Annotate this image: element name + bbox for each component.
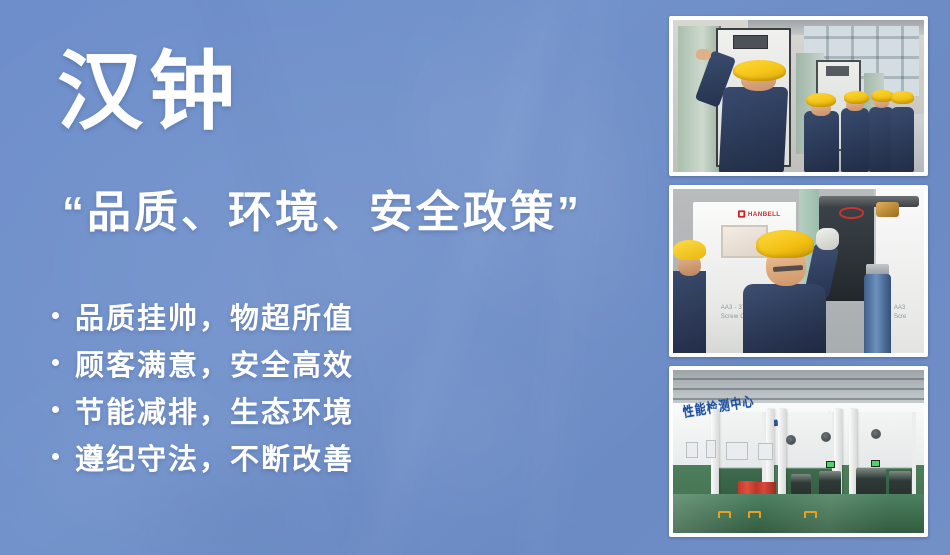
list-item: 节能减排，生态环境 bbox=[52, 386, 354, 433]
policy-subtitle: “品质、环境、安全政策” bbox=[62, 185, 582, 240]
wall-panel bbox=[686, 442, 699, 458]
wall-panel bbox=[726, 442, 749, 460]
worker-body bbox=[841, 108, 869, 172]
floor-guard-rail bbox=[748, 511, 761, 518]
hanbell-logo-text: HANBELL bbox=[748, 211, 781, 217]
bullet-dot-icon bbox=[52, 359, 59, 366]
policy-item-label: 品质挂帅，物超所值 bbox=[75, 295, 354, 337]
worker-body bbox=[804, 111, 839, 172]
list-item: 品质挂帅，物超所值 bbox=[52, 292, 354, 339]
worker-body bbox=[743, 284, 826, 353]
photo-column: 身穿深蓝工服、佩戴黄色安全帽的工人在电气控制柜前作业 HANBELL bbox=[669, 16, 928, 537]
pipe bbox=[819, 196, 919, 207]
list-item: 遵纪守法，不断改善 bbox=[52, 433, 354, 480]
worker-body bbox=[869, 107, 894, 172]
worker-body bbox=[673, 271, 706, 353]
hanbell-logo-mark-icon bbox=[738, 211, 745, 218]
photo-image: HANBELL AA3 - 37A Screw Compressor AA3 S… bbox=[673, 189, 924, 353]
brass-fitting bbox=[876, 202, 899, 217]
worker-body bbox=[718, 87, 788, 172]
yellow-hardhat-icon bbox=[756, 230, 814, 258]
photo-technician-screw-compressor: HANBELL AA3 - 37A Screw Compressor AA3 S… bbox=[669, 185, 928, 357]
machine-model-label-secondary: AA3 Scre bbox=[894, 304, 906, 322]
machine-model2-line2: Scre bbox=[894, 313, 906, 322]
hanbell-logo: HANBELL bbox=[738, 211, 781, 218]
cabinet-panel bbox=[733, 35, 768, 49]
yellow-hardhat-icon bbox=[673, 240, 706, 260]
yellow-hardhat-icon bbox=[844, 91, 869, 103]
bullet-dot-icon bbox=[52, 312, 59, 319]
cabinet-panel bbox=[826, 66, 849, 77]
list-item: 顾客满意，安全高效 bbox=[52, 339, 354, 386]
policy-list: 品质挂帅，物超所值 顾客满意，安全高效 节能减排，生态环境 遵纪守法，不断改善 bbox=[52, 292, 354, 480]
valve-icon bbox=[839, 207, 864, 218]
wall-fan-icon bbox=[871, 429, 881, 439]
yellow-hardhat-icon bbox=[806, 93, 836, 107]
brand-title: 汉钟 bbox=[57, 46, 241, 139]
floor-guard-rail bbox=[804, 511, 817, 518]
wall-panel bbox=[758, 443, 773, 459]
ceiling-beam bbox=[673, 388, 924, 390]
worker-body bbox=[891, 107, 914, 172]
machine-model2-line1: AA3 bbox=[894, 304, 906, 313]
policy-item-label: 节能减排，生态环境 bbox=[75, 389, 354, 431]
oil-separator-tank bbox=[864, 274, 892, 353]
photo-performance-testing-center: 性能检测中心 （测量范围：4－75KW） bbox=[669, 366, 928, 537]
yellow-hardhat-icon bbox=[733, 60, 786, 81]
policy-item-label: 遵纪守法，不断改善 bbox=[75, 436, 354, 478]
floor-reflection bbox=[673, 494, 924, 533]
control-display bbox=[826, 461, 835, 468]
bullet-dot-icon bbox=[52, 406, 59, 413]
photo-image: 性能检测中心 （测量范围：4－75KW） bbox=[673, 370, 924, 533]
yellow-hardhat-icon bbox=[891, 91, 914, 103]
ceiling-beam bbox=[673, 378, 924, 380]
wall-fan-icon bbox=[821, 432, 831, 442]
policy-item-label: 顾客满意，安全高效 bbox=[75, 342, 354, 384]
wall-panel bbox=[706, 440, 716, 458]
floor-guard-rail bbox=[718, 511, 731, 518]
work-glove-icon bbox=[816, 228, 839, 249]
text-column: 汉钟 “品质、环境、安全政策” 品质挂帅，物超所值 顾客满意，安全高效 节能减排… bbox=[0, 0, 660, 555]
photo-image: 身穿深蓝工服、佩戴黄色安全帽的工人在电气控制柜前作业 bbox=[673, 20, 924, 172]
photo-workers-electrical-cabinets: 身穿深蓝工服、佩戴黄色安全帽的工人在电气控制柜前作业 bbox=[669, 16, 928, 176]
slide-canvas: 汉钟 “品质、环境、安全政策” 品质挂帅，物超所值 顾客满意，安全高效 节能减排… bbox=[0, 0, 950, 555]
bullet-dot-icon bbox=[52, 453, 59, 460]
worker-hand bbox=[696, 49, 711, 60]
control-display bbox=[871, 460, 880, 467]
